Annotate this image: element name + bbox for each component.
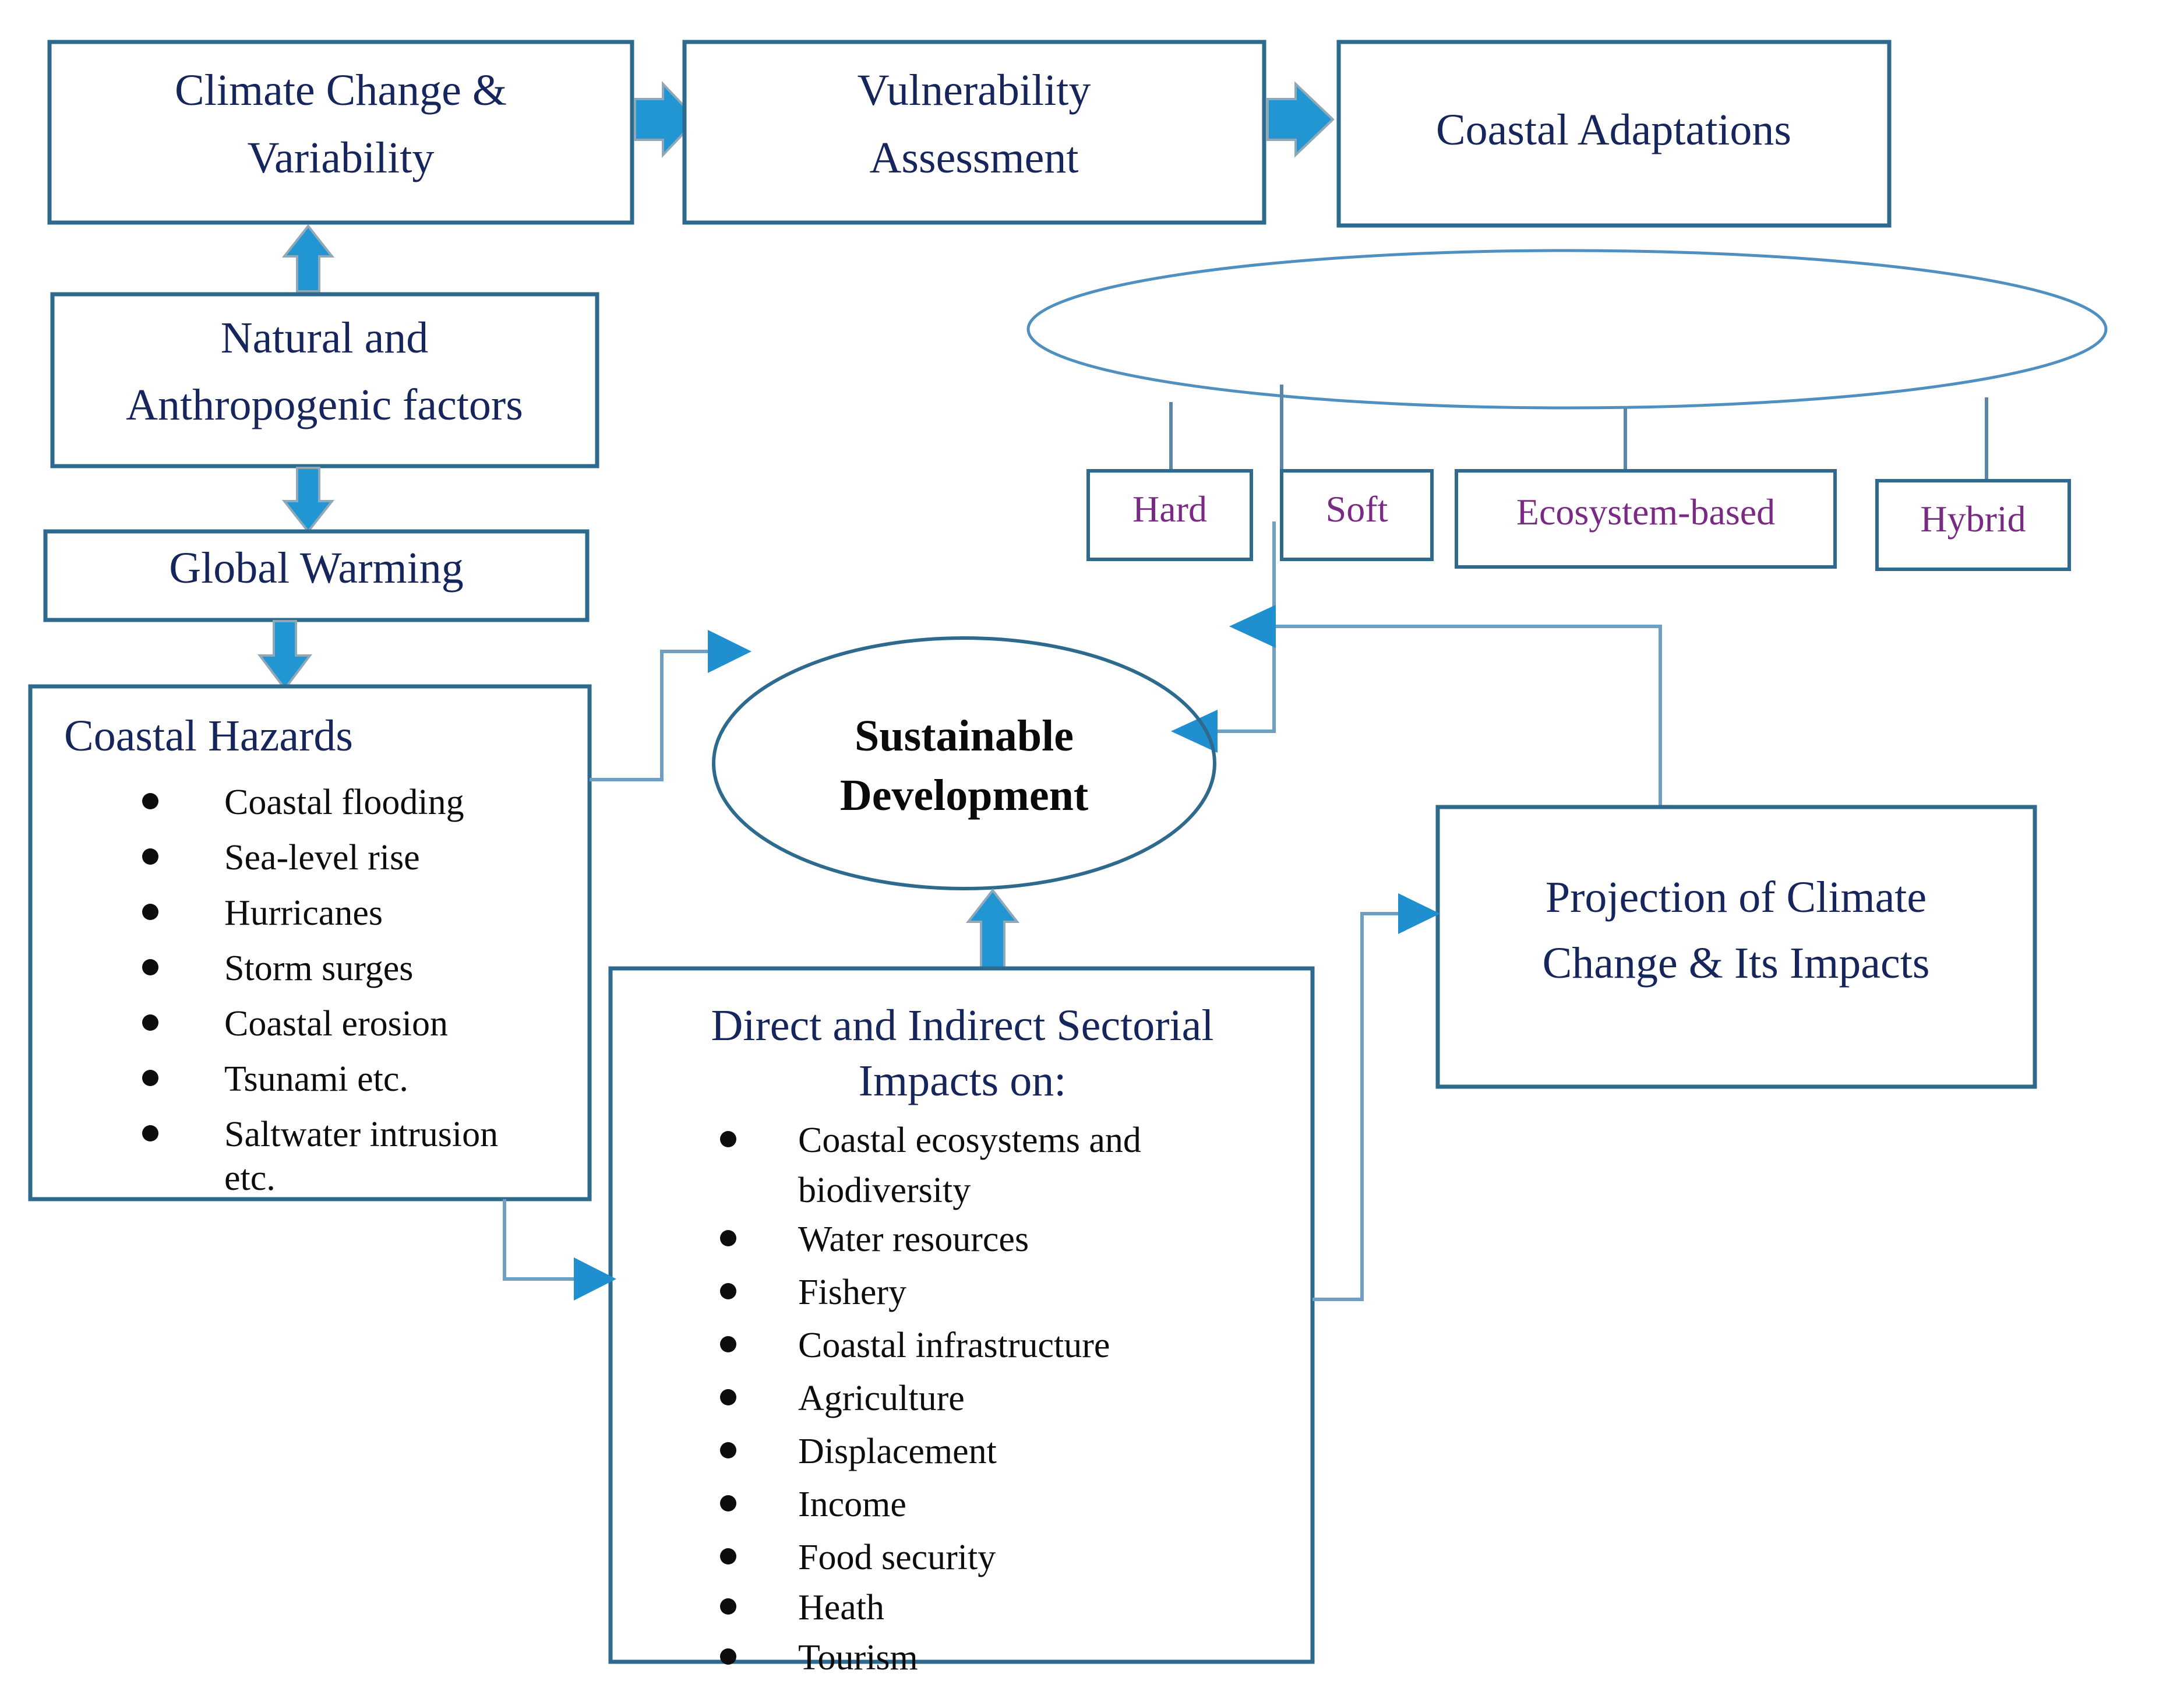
- impact-item: Coastal infrastructure: [798, 1326, 1110, 1365]
- bullet-dot-icon: [142, 959, 158, 975]
- arrowhead-into-sustainable-development-left: [708, 630, 751, 673]
- hazard-item: Saltwater intrusion: [224, 1115, 498, 1154]
- impact-item: Fishery: [798, 1273, 906, 1312]
- bullet-dot-icon: [720, 1648, 736, 1665]
- hazard-item: Hurricanes: [224, 893, 383, 933]
- block-arrow-factors-to-global-warming: [284, 468, 332, 531]
- vulnerability-label-line1: Vulnerability: [858, 66, 1091, 115]
- coastal-adaptation-framework-diagram: Climate Change & Variability Vulnerabili…: [0, 0, 2184, 1702]
- vulnerability-label-line2: Assessment: [870, 133, 1079, 182]
- adaptations-grouping-ellipse: [1028, 251, 2106, 408]
- projection-label-line2: Change & Its Impacts: [1543, 939, 1930, 988]
- global-warming-label: Global Warming: [169, 544, 463, 593]
- hazard-item: Coastal flooding: [224, 783, 464, 822]
- impact-item: Coastal ecosystems and: [798, 1120, 1141, 1160]
- bullet-dot-icon: [142, 1070, 158, 1086]
- projection-label-line1: Projection of Climate: [1546, 873, 1927, 922]
- adaptation-hybrid-label: Hybrid: [1920, 498, 2026, 540]
- hazard-item-continuation: etc.: [224, 1158, 276, 1198]
- climate-change-label-line2: Variability: [248, 133, 435, 182]
- bullet-dot-icon: [720, 1283, 736, 1299]
- connector-sectorial-impacts-to-projection: [1312, 914, 1398, 1299]
- sectorial-impacts-heading-line1: Direct and Indirect Sectorial: [711, 1001, 1213, 1050]
- block-arrow-global-warming-to-hazards: [260, 621, 310, 689]
- coastal-hazards-heading: Coastal Hazards: [64, 711, 353, 760]
- sustainable-development-label-line2: Development: [840, 771, 1088, 820]
- bullet-dot-icon: [720, 1336, 736, 1352]
- bullet-dot-icon: [720, 1548, 736, 1564]
- impact-item: Displacement: [798, 1432, 997, 1471]
- arrowhead-into-sustainable-development-upper: [1229, 605, 1276, 648]
- impact-item: Water resources: [798, 1220, 1029, 1259]
- impact-item: Heath: [798, 1588, 884, 1627]
- bullet-dot-icon: [142, 793, 158, 809]
- bullet-dot-icon: [142, 1014, 158, 1031]
- bullet-dot-icon: [720, 1598, 736, 1615]
- connector-hazards-to-sectorial-impacts: [504, 1199, 574, 1279]
- connector-hazards-to-sustainable-development: [590, 651, 708, 780]
- impact-item: Agriculture: [798, 1379, 965, 1418]
- bullet-dot-icon: [142, 1125, 158, 1141]
- block-arrow-vulnerability-to-adaptations: [1268, 84, 1333, 155]
- bullet-dot-icon: [142, 904, 158, 920]
- sustainable-development-label-line1: Sustainable: [855, 711, 1074, 760]
- impact-item: Income: [798, 1485, 906, 1524]
- hazard-item: Coastal erosion: [224, 1004, 448, 1044]
- bullet-dot-icon: [720, 1230, 736, 1246]
- bullet-dot-icon: [142, 848, 158, 865]
- hazard-item: Tsunami etc.: [224, 1059, 408, 1099]
- adaptation-ecosystem-label: Ecosystem-based: [1516, 491, 1775, 533]
- hazard-item: Storm surges: [224, 949, 413, 988]
- flowchart-canvas: Climate Change & Variability Vulnerabili…: [0, 0, 2184, 1702]
- sectorial-impacts-heading-line2: Impacts on:: [859, 1056, 1067, 1105]
- impact-item-continuation: biodiversity: [798, 1171, 971, 1210]
- natural-factors-label-line1: Natural and: [221, 313, 429, 362]
- bullet-dot-icon: [720, 1495, 736, 1511]
- bullet-dot-icon: [720, 1442, 736, 1458]
- connector-projection-to-sustainable-development: [1276, 626, 1660, 833]
- bullet-dot-icon: [720, 1131, 736, 1147]
- hazard-item: Sea-level rise: [224, 838, 420, 878]
- adaptation-soft-label: Soft: [1326, 488, 1388, 530]
- adaptation-hard-label: Hard: [1132, 488, 1207, 530]
- coastal-adaptations-label: Coastal Adaptations: [1436, 105, 1791, 154]
- climate-change-label-line1: Climate Change &: [175, 66, 507, 115]
- impact-item: Food security: [798, 1538, 996, 1577]
- ellipse-sustainable-development[interactable]: [714, 638, 1215, 889]
- arrowhead-into-projection-box: [1398, 893, 1440, 934]
- natural-factors-label-line2: Anthropogenic factors: [126, 380, 523, 429]
- bullet-dot-icon: [720, 1389, 736, 1405]
- impact-item: Tourism: [798, 1638, 918, 1678]
